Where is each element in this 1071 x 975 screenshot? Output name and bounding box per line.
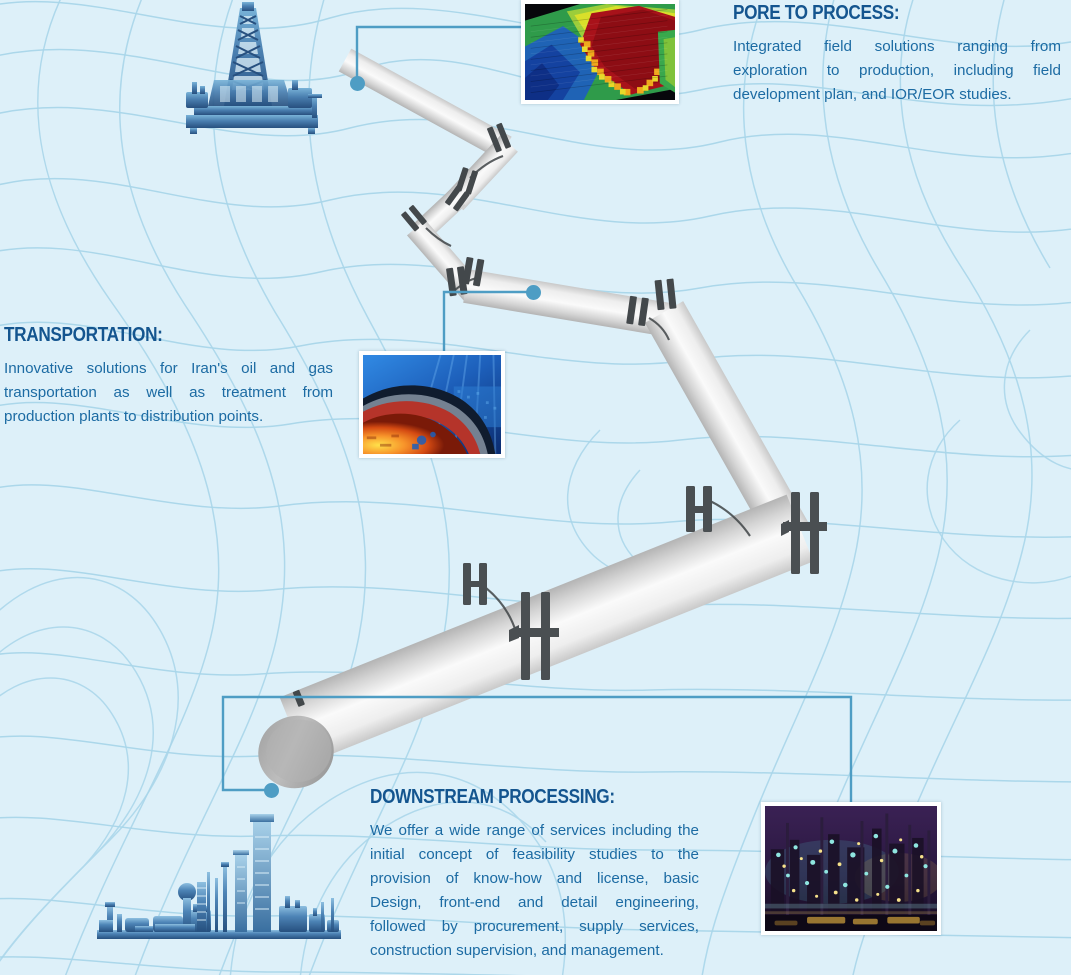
body-pore-to-process: Integrated field solutions ranging from … xyxy=(733,35,1061,107)
heading-transportation: TRANSPORTATION: xyxy=(4,324,287,347)
connector-dot-pore-to-process xyxy=(350,76,365,91)
infographic-canvas: PORE TO PROCESS: Integrated field soluti… xyxy=(0,0,1071,975)
body-transportation: Innovative solutions for Iran's oil and … xyxy=(4,357,333,429)
connector-dot-downstream xyxy=(264,783,279,798)
heading-downstream-processing: DOWNSTREAM PROCESSING: xyxy=(370,786,653,809)
section-transportation: TRANSPORTATION: Innovative solutions for… xyxy=(4,324,333,429)
refinery-night-photo xyxy=(761,802,941,935)
heading-pore-to-process: PORE TO PROCESS: xyxy=(733,2,1015,25)
pipeline-bore-photo xyxy=(359,351,505,458)
connector-dot-transportation xyxy=(526,285,541,300)
section-pore-to-process: PORE TO PROCESS: Integrated field soluti… xyxy=(733,2,1061,107)
body-downstream-processing: We offer a wide range of services includ… xyxy=(370,819,699,963)
section-downstream-processing: DOWNSTREAM PROCESSING: We offer a wide r… xyxy=(370,786,699,963)
seismic-reservoir-photo xyxy=(521,0,679,104)
